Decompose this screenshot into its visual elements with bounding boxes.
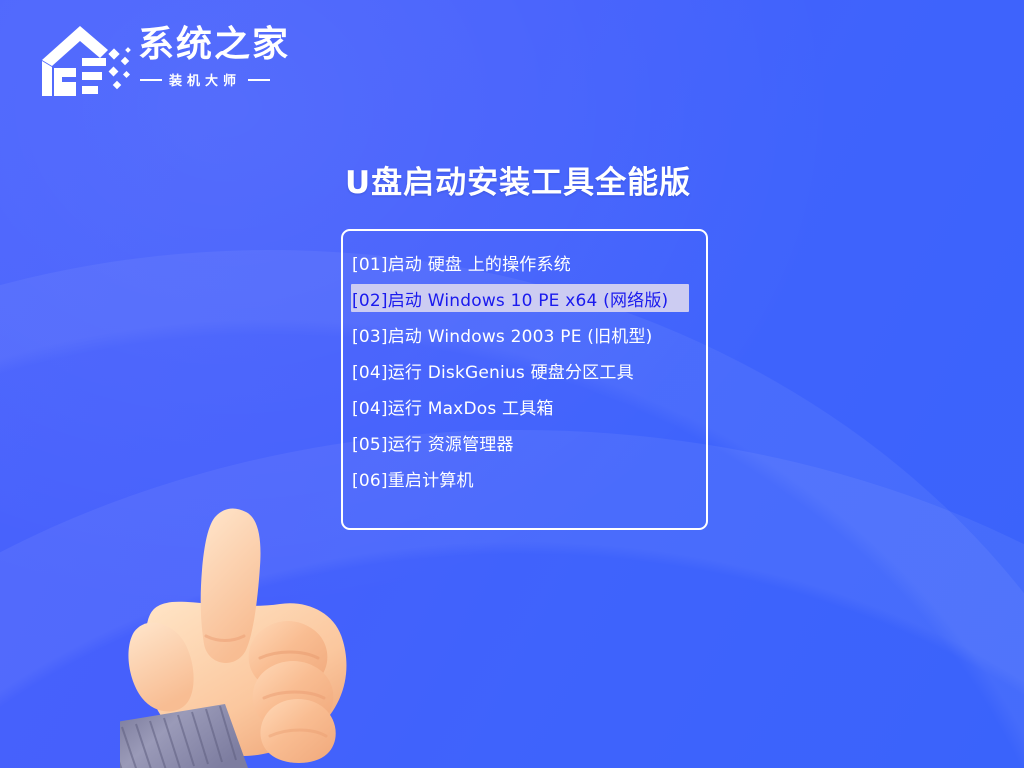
boot-menu-screen: 系统之家 装机大师 U盘启动安装工具全能版 [01]启动 硬盘 上的操作系统[0… xyxy=(0,0,1024,768)
boot-menu-item[interactable]: [04]运行 MaxDos 工具箱 xyxy=(343,392,706,420)
boot-menu-list: [01]启动 硬盘 上的操作系统[02]启动 Windows 10 PE x64… xyxy=(343,248,706,500)
boot-menu-item-label: [02]启动 Windows 10 PE x64 (网络版) xyxy=(352,286,668,311)
pointing-hand-illustration xyxy=(120,508,385,768)
logo-text-group: 系统之家 装机大师 xyxy=(138,24,308,89)
boot-menu-item-label: [04]运行 MaxDos 工具箱 xyxy=(352,394,554,419)
boot-menu-item[interactable]: [04]运行 DiskGenius 硬盘分区工具 xyxy=(343,356,706,384)
boot-menu-item-label: [05]运行 资源管理器 xyxy=(352,430,514,455)
boot-menu-item-label: [04]运行 DiskGenius 硬盘分区工具 xyxy=(352,358,634,383)
boot-menu-item[interactable]: [03]启动 Windows 2003 PE (旧机型) xyxy=(343,320,706,348)
logo-subtitle-row: 装机大师 xyxy=(138,70,308,89)
page-title: U盘启动安装工具全能版 xyxy=(345,157,691,202)
house-pixel-logo-icon xyxy=(36,20,140,102)
boot-menu-item[interactable]: [05]运行 资源管理器 xyxy=(343,428,706,456)
boot-menu-item-label: [01]启动 硬盘 上的操作系统 xyxy=(352,250,571,275)
boot-menu-box: [01]启动 硬盘 上的操作系统[02]启动 Windows 10 PE x64… xyxy=(341,229,708,530)
dash-left-icon xyxy=(140,79,162,81)
boot-menu-item[interactable]: [06]重启计算机 xyxy=(343,464,706,492)
logo-title: 系统之家 xyxy=(138,24,308,66)
logo-subtitle: 装机大师 xyxy=(169,70,241,89)
boot-menu-item-label: [06]重启计算机 xyxy=(352,466,474,491)
brand-logo: 系统之家 装机大师 xyxy=(36,18,306,110)
boot-menu-item[interactable]: [01]启动 硬盘 上的操作系统 xyxy=(343,248,706,276)
dash-right-icon xyxy=(248,79,270,81)
boot-menu-item[interactable]: [02]启动 Windows 10 PE x64 (网络版) xyxy=(351,284,689,312)
boot-menu-item-label: [03]启动 Windows 2003 PE (旧机型) xyxy=(352,322,653,347)
